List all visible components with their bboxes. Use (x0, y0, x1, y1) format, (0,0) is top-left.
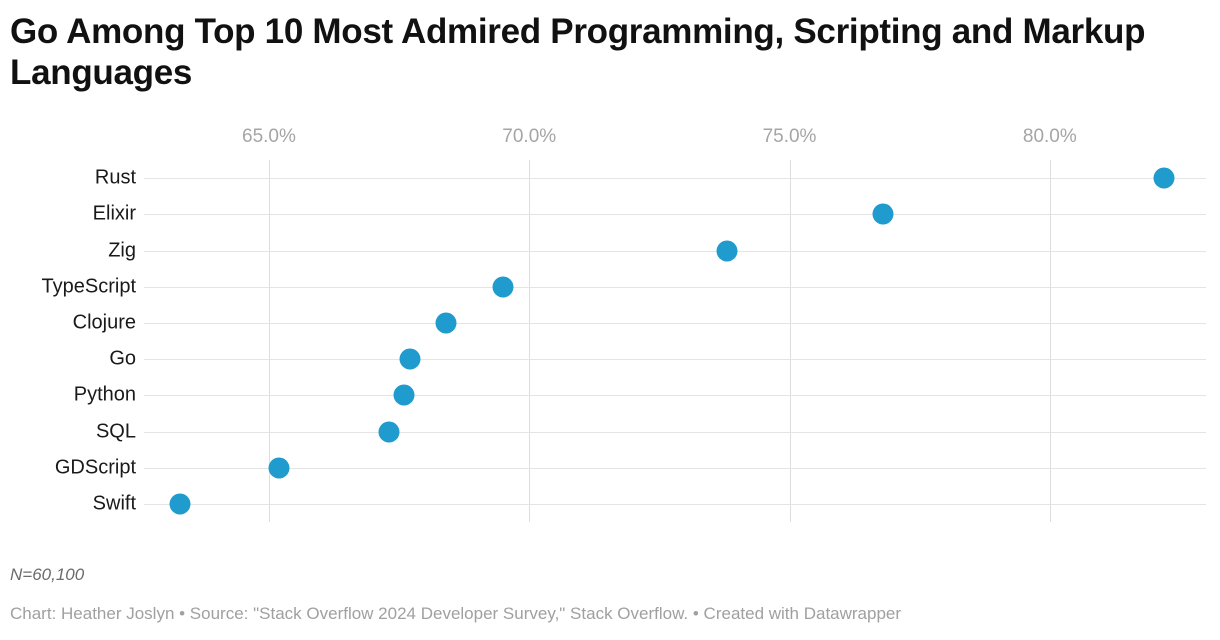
y-tick-label: TypeScript (42, 275, 136, 298)
data-point[interactable] (435, 312, 456, 333)
plot-area (144, 160, 1206, 522)
page-title: Go Among Top 10 Most Admired Programming… (10, 12, 1170, 93)
sample-size-note: N=60,100 (10, 565, 84, 585)
y-tick-label: Elixir (93, 203, 136, 226)
y-tick-label: SQL (96, 420, 136, 443)
row-gridline (144, 395, 1206, 396)
data-point[interactable] (378, 421, 399, 442)
data-point[interactable] (493, 276, 514, 297)
data-point[interactable] (269, 457, 290, 478)
x-tick-label: 80.0% (1023, 126, 1077, 148)
data-point[interactable] (170, 493, 191, 514)
y-axis-category-labels: RustElixirZigTypeScriptClojureGoPythonSQ… (0, 160, 136, 522)
y-tick-label: GDScript (55, 456, 136, 479)
y-tick-label: Python (74, 384, 136, 407)
data-point[interactable] (717, 240, 738, 261)
x-tick-label: 70.0% (502, 126, 556, 148)
data-point[interactable] (873, 204, 894, 225)
row-gridline (144, 214, 1206, 215)
data-point[interactable] (394, 385, 415, 406)
row-gridline (144, 504, 1206, 505)
chart-credit: Chart: Heather Joslyn • Source: "Stack O… (10, 604, 901, 624)
x-axis-tick-labels: 65.0%70.0%75.0%80.0% (144, 126, 1206, 154)
x-tick-label: 75.0% (763, 126, 817, 148)
x-tick-label: 65.0% (242, 126, 296, 148)
y-tick-label: Rust (95, 167, 136, 190)
data-point[interactable] (1154, 168, 1175, 189)
y-tick-label: Swift (93, 492, 136, 515)
data-point[interactable] (399, 349, 420, 370)
row-gridline (144, 359, 1206, 360)
y-tick-label: Clojure (73, 311, 136, 334)
row-gridline (144, 287, 1206, 288)
chart-container: Go Among Top 10 Most Admired Programming… (0, 0, 1220, 640)
row-gridline (144, 468, 1206, 469)
y-tick-label: Go (109, 348, 136, 371)
row-gridline (144, 251, 1206, 252)
y-tick-label: Zig (108, 239, 136, 262)
row-gridline (144, 323, 1206, 324)
row-gridline (144, 432, 1206, 433)
row-gridline (144, 178, 1206, 179)
title-block: Go Among Top 10 Most Admired Programming… (10, 12, 1170, 93)
